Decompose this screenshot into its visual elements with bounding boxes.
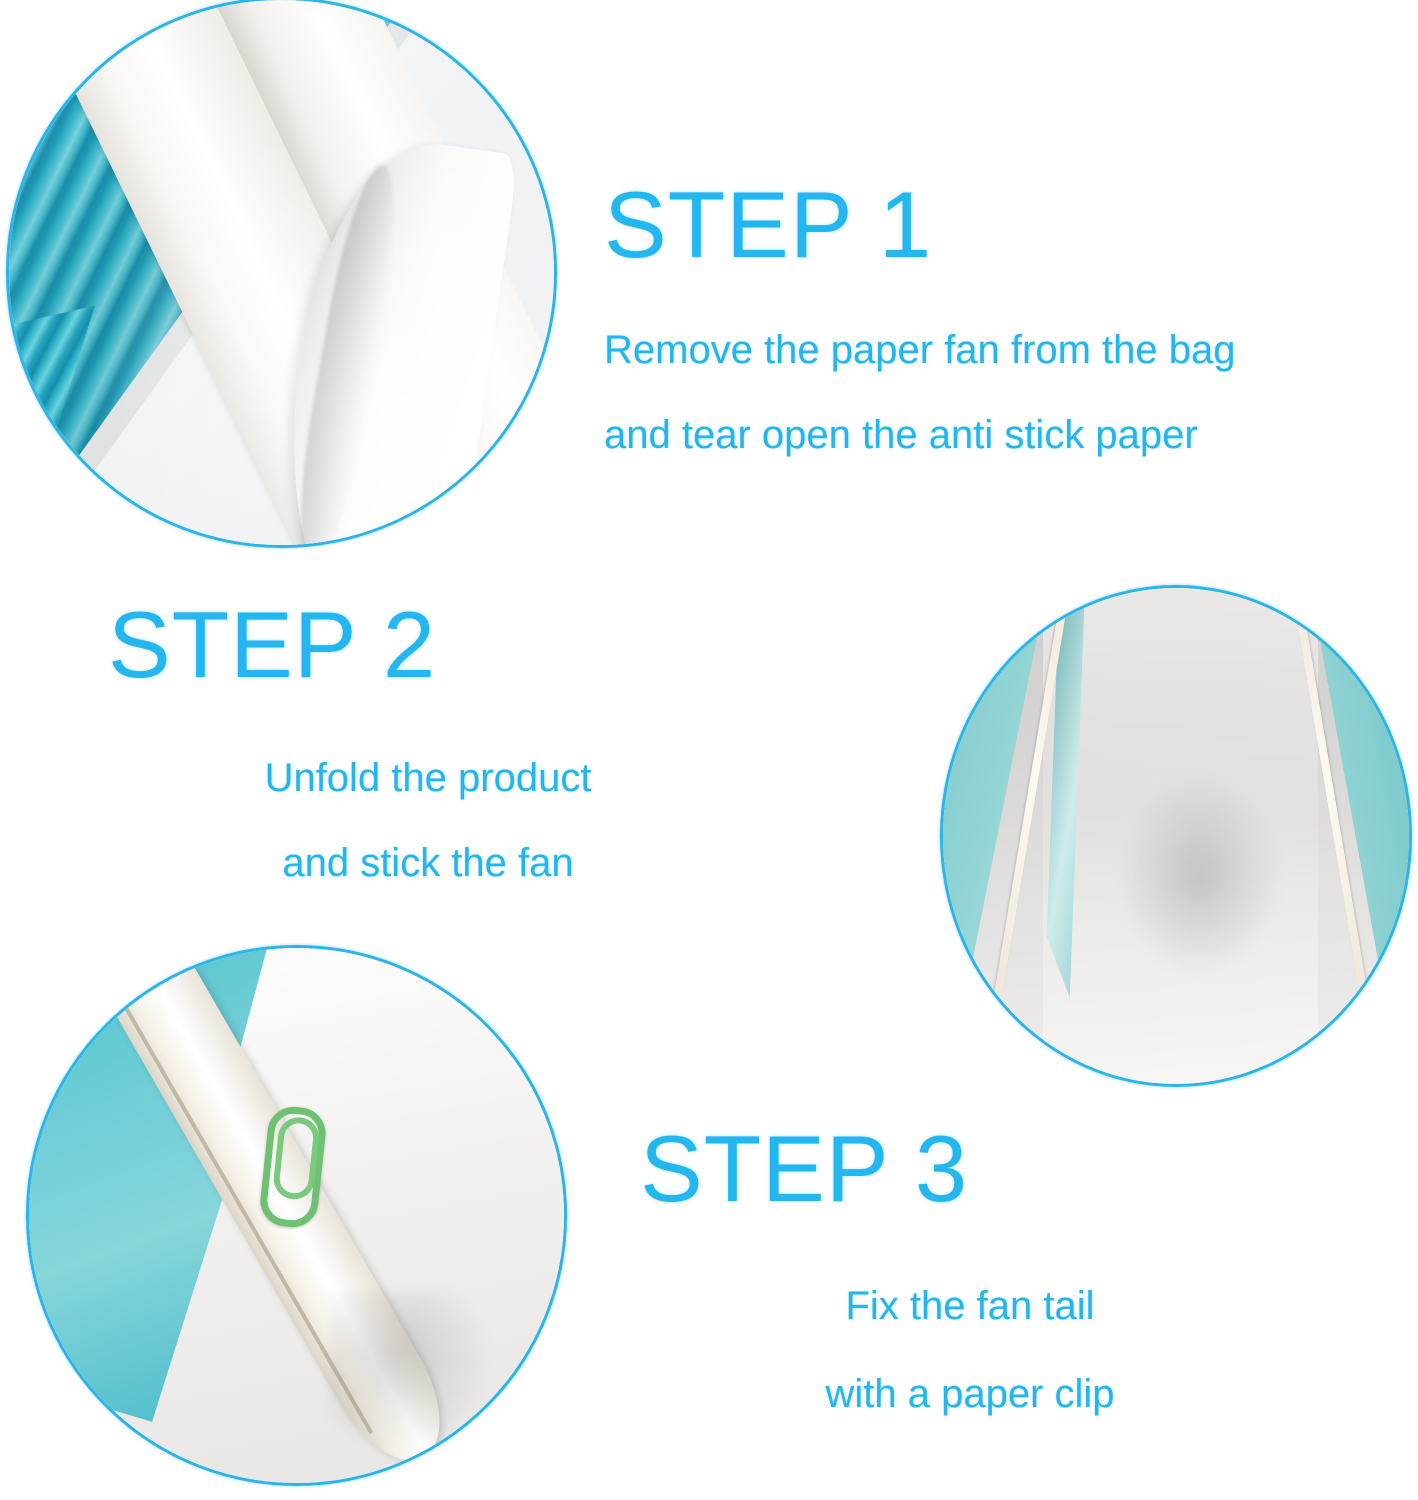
step2-text-block: STEP 2 Unfold the product and stick the … bbox=[108, 598, 748, 883]
photo3-soft-shadow bbox=[329, 1292, 492, 1455]
step3-text-block: STEP 3 Fix the fan tail with a paper cli… bbox=[640, 1122, 1300, 1414]
paper-clip-icon bbox=[258, 1104, 328, 1229]
step1-text-block: STEP 1 Remove the paper fan from the bag… bbox=[604, 178, 1235, 455]
step2-line-1: Unfold the product bbox=[108, 758, 748, 798]
step1-line-1: Remove the paper fan from the bag bbox=[604, 330, 1235, 370]
step1-photo bbox=[6, 0, 557, 548]
step2-photo-image bbox=[940, 585, 1412, 1087]
step3-line-1: Fix the fan tail bbox=[640, 1286, 1300, 1326]
step2-title: STEP 2 bbox=[108, 598, 748, 692]
step3-line-2: with a paper clip bbox=[640, 1374, 1300, 1414]
instruction-infographic: STEP 1 Remove the paper fan from the bag… bbox=[0, 0, 1418, 1500]
photo2-soft-shadow bbox=[1119, 776, 1280, 978]
step1-line-2: and tear open the anti stick paper bbox=[604, 415, 1235, 455]
step1-photo-image bbox=[6, 0, 557, 548]
step3-title: STEP 3 bbox=[640, 1122, 1300, 1216]
step1-title: STEP 1 bbox=[604, 178, 1235, 272]
step3-photo bbox=[26, 945, 567, 1486]
step3-photo-image bbox=[26, 945, 567, 1486]
step2-photo bbox=[940, 585, 1412, 1087]
step2-line-2: and stick the fan bbox=[108, 843, 748, 883]
